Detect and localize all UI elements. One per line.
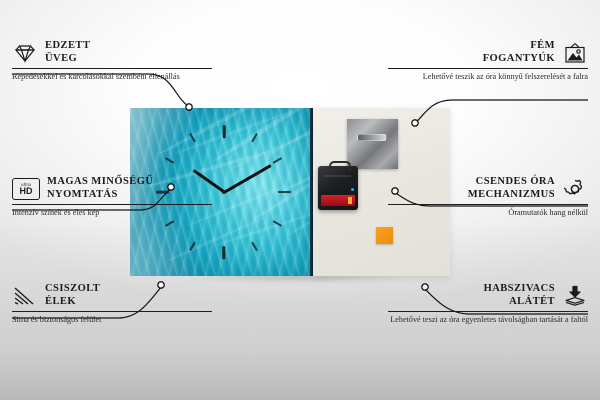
callout-title-2: FOGANTYÚK — [388, 53, 555, 66]
clock-tick — [222, 246, 225, 259]
clock-tick — [273, 158, 283, 165]
clock-center-pin — [222, 190, 226, 194]
callout-subtitle: Repedésekkel és karcolásokkal szembeni e… — [12, 69, 212, 83]
callout-title-2: NYOMTATÁS — [47, 189, 153, 202]
clock-tick — [165, 220, 175, 227]
metal-hanger — [347, 119, 398, 169]
callout-title: MAGAS MINŐSÉGŰ — [47, 176, 153, 189]
polished-edges-icon — [12, 285, 38, 307]
callout-metal-hangers: FÉM FOGANTYÚK Lehetővé teszik az óra kön… — [388, 40, 588, 83]
clock-tick — [222, 125, 225, 138]
callout-tempered-glass: EDZETT ÜVEG Repedésekkel és karcolásokka… — [12, 40, 212, 83]
callout-title-2: ÜVEG — [45, 53, 90, 66]
mechanism-handle — [329, 161, 351, 171]
mechanism-detail — [324, 175, 351, 177]
diamond-icon — [12, 42, 38, 64]
foam-pad-icon — [562, 285, 588, 307]
callout-subtitle: Lehetővé teszi az óra egyenletes távolsá… — [388, 312, 588, 326]
callout-subtitle: Óramutatók hang nélkül — [388, 205, 588, 219]
ultra-hd-icon: ultra HD — [12, 178, 40, 200]
callout-hd-print: ultra HD MAGAS MINŐSÉGŰ NYOMTATÁS Intenz… — [12, 176, 212, 219]
callout-silent-mechanism: CSENDES ÓRA MECHANIZMUS Óramutatók hang … — [388, 176, 588, 219]
mechanism-dot — [351, 188, 354, 191]
clock-tick — [189, 133, 196, 143]
callout-title: HABSZIVACS — [388, 283, 555, 296]
picture-hanger-icon — [562, 42, 588, 64]
callout-title-2: ÉLEK — [45, 296, 100, 309]
hanger-slot — [357, 134, 387, 141]
callout-title-2: ALÁTÉT — [388, 296, 555, 309]
callout-subtitle: Intenzív színek és éles kép — [12, 205, 212, 219]
clock-tick — [251, 241, 258, 251]
callout-title-2: MECHANIZMUS — [388, 189, 555, 202]
callout-subtitle: Sima és biztonságos felület — [12, 312, 212, 326]
gear-icon — [562, 178, 588, 200]
callout-title: EDZETT — [45, 40, 90, 53]
callout-title: CSENDES ÓRA — [388, 176, 555, 189]
callout-polished-edges: CSISZOLT ÉLEK Sima és biztonságos felüle… — [12, 283, 212, 326]
clock-tick — [189, 241, 196, 251]
foam-pad — [376, 227, 393, 244]
callout-foam-pad: HABSZIVACS ALÁTÉT Lehetővé teszi az óra … — [388, 283, 588, 326]
callout-title: FÉM — [388, 40, 555, 53]
clock-tick — [273, 220, 283, 227]
clock-tick — [251, 133, 258, 143]
infographic-canvas: EDZETT ÜVEG Repedésekkel és karcolásokka… — [0, 0, 600, 400]
clock-tick — [165, 158, 175, 165]
ultra-hd-icon-main: HD — [20, 187, 33, 196]
battery — [321, 195, 355, 206]
quartz-mechanism — [318, 166, 358, 210]
minute-hand — [223, 164, 271, 193]
clock-tick — [278, 191, 291, 194]
callout-subtitle: Lehetővé teszik az óra könnyű felszerelé… — [388, 69, 588, 83]
callout-title: CSISZOLT — [45, 283, 100, 296]
